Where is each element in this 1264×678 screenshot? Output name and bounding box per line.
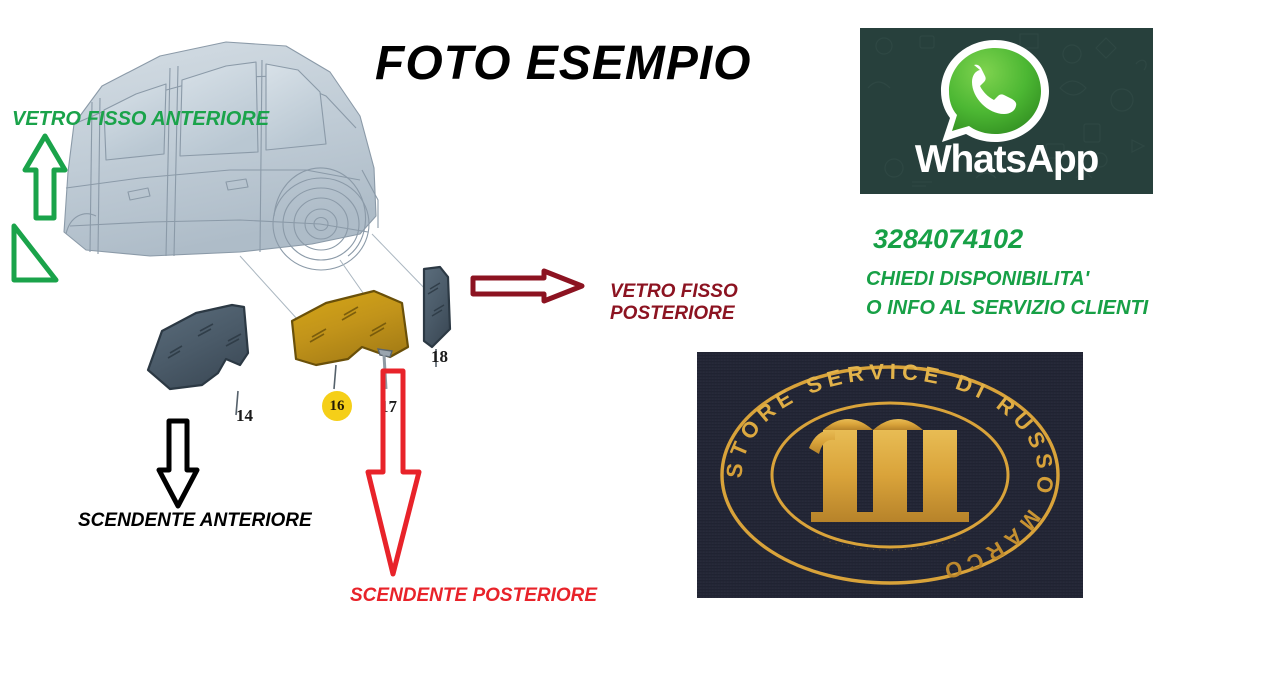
arrow-down-icon (156, 418, 200, 510)
arrow-down-long-icon (365, 368, 423, 580)
contact-line-2: O INFO AL SERVIZIO CLIENTI (866, 297, 1148, 320)
shop-logo-monogram (809, 419, 969, 522)
shop-logo-fineprint: · · · · · · · · · · · · · · · · · · · · … (816, 534, 965, 554)
triangle-outline-icon (8, 222, 60, 284)
shop-logo-artwork: MRICAMBISTORE SERVICE DI RUSSO MARCO · ·… (697, 352, 1083, 598)
arrow-up-icon (22, 132, 68, 222)
callout-label-scendente-anteriore: SCENDENTE ANTERIORE (78, 510, 312, 532)
part-number-16-badge: 16 (322, 391, 352, 421)
callout-label-vetro-fisso-anteriore: VETRO FISSO ANTERIORE (12, 108, 269, 131)
screenshot-canvas: FOTO ESEMPIO (0, 0, 1264, 678)
whatsapp-phone-bubble-icon (934, 36, 1054, 148)
callout-label-scendente-posteriore: SCENDENTE POSTERIORE (350, 585, 597, 607)
whatsapp-wordmark: WhatsApp (860, 138, 1153, 182)
callout-label-vetro-fisso-posteriore: VETRO FISSO POSTERIORE (610, 281, 738, 325)
contact-line-1: CHIEDI DISPONIBILITA' (866, 268, 1089, 291)
part-number-18: 18 (431, 347, 448, 367)
arrow-right-icon (470, 268, 586, 304)
part-number-14: 14 (236, 406, 253, 426)
glass-part-14 (148, 305, 248, 415)
contact-phone-number[interactable]: 3284074102 (873, 224, 1023, 255)
shop-logo-photo: MRICAMBISTORE SERVICE DI RUSSO MARCO · ·… (697, 352, 1083, 598)
whatsapp-banner: WhatsApp (860, 28, 1153, 194)
